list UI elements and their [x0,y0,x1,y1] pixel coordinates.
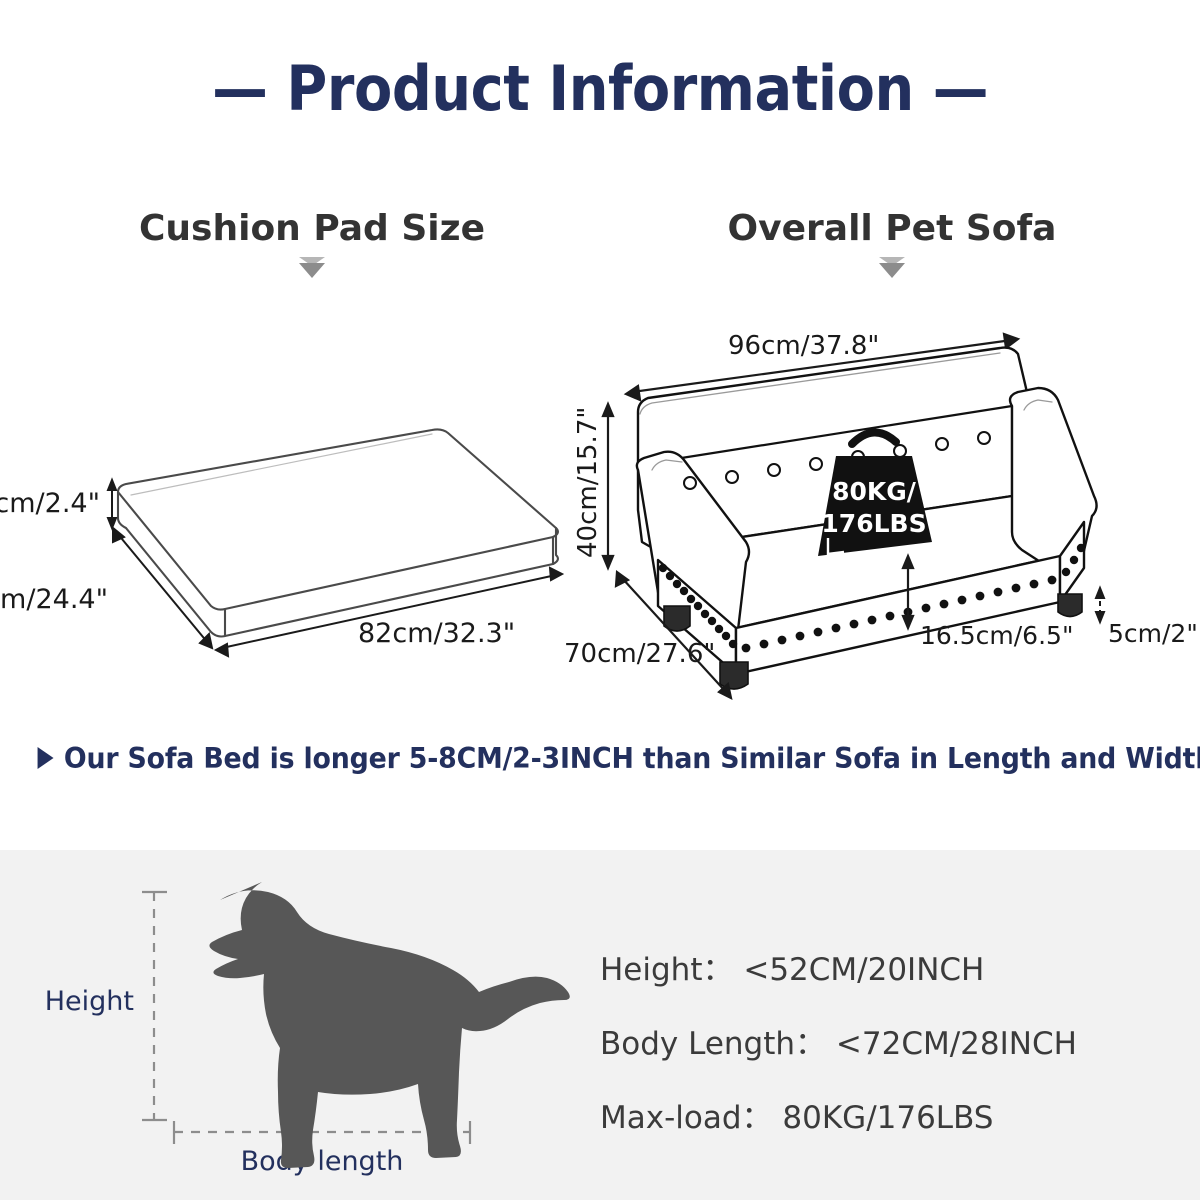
sofa-width-label: 96cm/37.8" [728,331,879,361]
section-heading-cushion: Cushion Pad Size [102,208,522,284]
page-title: — Product Information — [0,52,1200,125]
sofa-leg-height-label: 5cm/2" [1108,619,1198,648]
spec-value-body-length: <72CM/28INCH [836,1026,1077,1062]
weight-tag-line2: 176LBS [821,509,926,538]
spec-value-max-load: 80KG/176LBS [782,1100,993,1136]
product-information-page: — Product Information — Cushion Pad Size… [0,0,1200,1200]
section-heading-sofa-label: Overall Pet Sofa [682,208,1102,249]
cushion-thickness-label: 6cm/2.4" [0,488,100,519]
dog-spec-list: Height： <52CM/20INCH Body Length： <72CM/… [600,944,1160,1137]
section-heading-cushion-label: Cushion Pad Size [102,208,522,249]
dog-silhouette-icon [209,882,569,1168]
pet-sofa-diagram: 96cm/37.8" 40cm/15.7" [560,310,1200,710]
spec-label-body-length: Body Length： [600,1026,826,1062]
triangle-right-icon [38,747,54,769]
chevron-down-icon [682,255,1102,284]
weight-tag-line1: 80KG/ [832,477,917,506]
dog-body-length-label: Body length [241,1146,404,1177]
spec-row-body-length: Body Length： <72CM/28INCH [600,1018,1160,1063]
cushion-width-label: 82cm/32.3" [358,618,515,649]
section-heading-sofa: Overall Pet Sofa [682,208,1102,284]
spec-label-max-load: Max-load： [600,1100,773,1136]
spec-row-height: Height： <52CM/20INCH [600,944,1160,989]
sofa-height-label: 40cm/15.7" [573,407,603,558]
spec-value-height: <52CM/20INCH [743,952,984,988]
cushion-depth-label: 62cm/24.4" [0,584,108,615]
cushion-pad-diagram: 6cm/2.4" 62cm/24.4" 82cm/32.3" [0,400,580,690]
highlight-bullet-row: Our Sofa Bed is longer 5-8CM/2-3INCH tha… [0,742,1200,775]
dog-height-label: Height [45,986,134,1017]
highlight-bullet-text: Our Sofa Bed is longer 5-8CM/2-3INCH tha… [64,742,1200,775]
sofa-seat-height-label: 16.5cm/6.5" [920,621,1073,650]
dog-size-diagram: Height Body length [34,862,574,1186]
chevron-down-icon [102,255,522,284]
spec-row-max-load: Max-load： 80KG/176LBS [600,1092,1160,1137]
sofa-depth-label: 70cm/27.6" [564,639,715,669]
page-title-text: — Product Information — [212,52,988,125]
spec-label-height: Height： [600,952,733,988]
